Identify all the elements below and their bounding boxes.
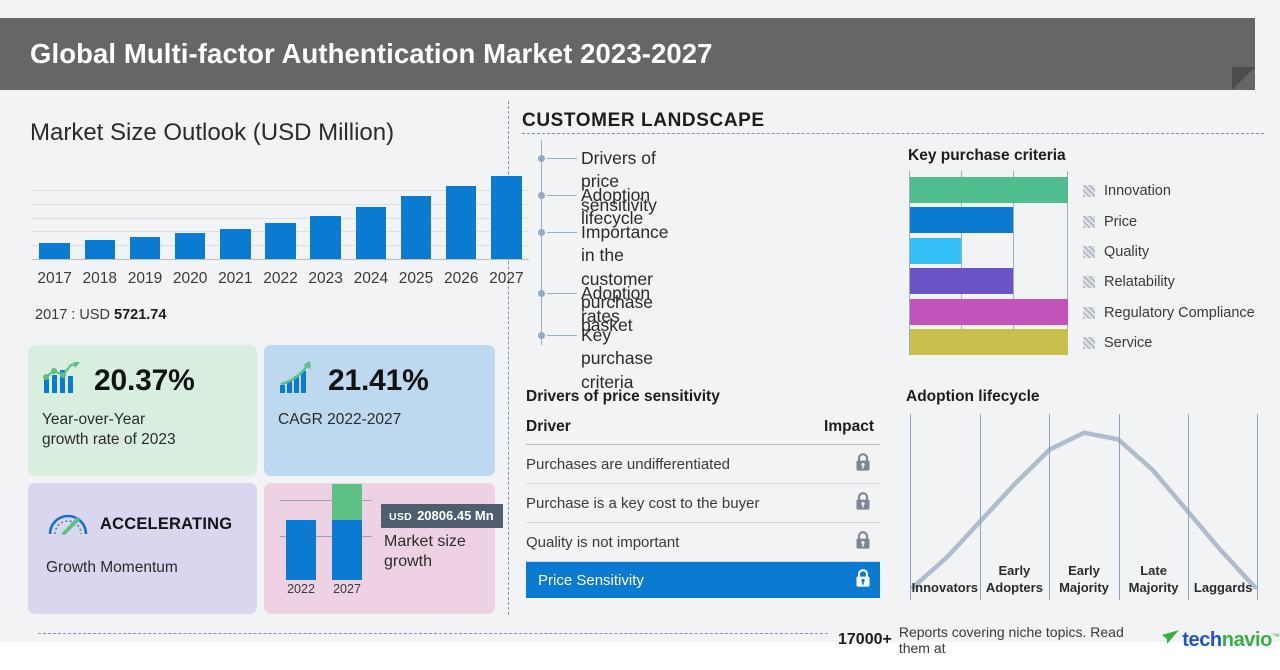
connector-line [547, 293, 577, 294]
connector-line [547, 232, 577, 233]
kpi-caption-yoy: Year-over-Year growth rate of 2023 [28, 400, 257, 451]
legend-label: Regulatory Compliance [1104, 305, 1255, 321]
kpc-bar-innovation [910, 177, 1068, 203]
market-size-outlook-title: Market Size Outlook (USD Million) [30, 119, 394, 147]
bar-2021 [220, 229, 251, 259]
legend-item: Service [1083, 328, 1278, 358]
customer-landscape-title: CUSTOMER LANDSCAPE [522, 110, 765, 132]
x-label-2019: 2019 [122, 270, 167, 288]
customer-landscape-spine [541, 140, 542, 345]
drivers-table-header: Driver Impact [526, 418, 880, 445]
bar-2019 [130, 237, 161, 259]
drivers-table-title: Drivers of price sensitivity [526, 388, 720, 406]
note-prefix: 2017 : USD [35, 307, 110, 323]
kpi-value-cagr: 21.41% [328, 364, 429, 398]
bar-2018 [85, 240, 116, 259]
bullet-dot-icon [538, 155, 545, 162]
table-row[interactable]: Purchases are undifferentiated [526, 445, 880, 484]
column-header-driver: Driver [526, 418, 571, 436]
adoption-lifecycle-x-axis: InnovatorsEarlyAdoptersEarlyMajorityLate… [910, 563, 1258, 605]
legend-item: Relatability [1083, 267, 1278, 297]
technavio-logo[interactable]: tech navio ™ [1162, 629, 1280, 652]
legend-swatch-icon [1083, 276, 1095, 288]
market-size-outlook-chart [32, 172, 529, 260]
kpc-bar-regulatory-compliance [910, 299, 1068, 325]
lock-icon [854, 452, 872, 477]
key-purchase-criteria-legend: InnovationPriceQualityRelatabilityRegula… [1083, 176, 1278, 358]
bar-2020 [175, 233, 206, 259]
msg-year-2027: 2027 [326, 582, 368, 596]
driver-label: Quality is not important [526, 534, 679, 551]
x-axis-line [32, 259, 529, 260]
kpc-bar-quality [910, 238, 961, 264]
lifecycle-label-innovators: Innovators [910, 563, 980, 597]
kpc-bar-relatability [910, 268, 1013, 294]
lock-icon [854, 568, 872, 593]
legend-swatch-icon [1083, 185, 1095, 197]
legend-item: Regulatory Compliance [1083, 298, 1278, 328]
legend-label: Price [1104, 214, 1137, 230]
kpi-caption-momentum: Growth Momentum [28, 542, 257, 578]
kpi-caption-cagr: CAGR 2022-2027 [264, 400, 495, 430]
page-title: Global Multi-factor Authentication Marke… [30, 38, 713, 70]
x-label-2024: 2024 [348, 270, 393, 288]
drivers-table: Driver Impact Purchases are undifferenti… [526, 418, 880, 598]
connector-line [547, 195, 577, 196]
legend-swatch-icon [1083, 216, 1095, 228]
bullet-dot-icon [538, 290, 545, 297]
kpc-bar-price [910, 207, 1013, 233]
key-purchase-criteria-title: Key purchase criteria [908, 147, 1066, 165]
lifecycle-label-early-adopters: EarlyAdopters [980, 563, 1050, 597]
lifecycle-label-laggards: Laggards [1188, 563, 1258, 597]
legend-item: Quality [1083, 237, 1278, 267]
kpi-card-yoy-growth: 20.37% Year-over-Year growth rate of 202… [28, 345, 257, 476]
kpi-value-yoy: 20.37% [94, 364, 195, 398]
footer: 17000+ Reports covering niche topics. Re… [838, 624, 1280, 656]
header-bar: Global Multi-factor Authentication Marke… [0, 18, 1255, 90]
legend-item: Price [1083, 206, 1278, 236]
x-label-2027: 2027 [484, 270, 529, 288]
x-label-2021: 2021 [213, 270, 258, 288]
customer-landscape-underline [522, 133, 1264, 134]
x-label-2026: 2026 [439, 270, 484, 288]
x-label-2022: 2022 [258, 270, 303, 288]
trend-arrow-icon [278, 361, 316, 400]
table-row[interactable]: Purchase is a key cost to the buyer [526, 484, 880, 523]
footer-divider [38, 633, 828, 634]
customer-landscape-item-label: Adoption rates [581, 282, 650, 329]
bar-2025 [401, 196, 432, 259]
bar-2022 [265, 223, 296, 259]
legend-label: Quality [1104, 244, 1149, 260]
bar-2026 [446, 186, 477, 259]
legend-label: Innovation [1104, 183, 1171, 199]
speedometer-icon [46, 507, 90, 542]
bullet-dot-icon [538, 192, 545, 199]
footer-report-count: 17000+ [838, 631, 892, 649]
kpc-bar-service [910, 329, 1068, 355]
bullet-dot-icon [538, 332, 545, 339]
kpi-card-market-size-growth: 2022 2027 USD20806.45 Mn Market size gro… [264, 483, 495, 614]
kpi-card-growth-momentum: ACCELERATING Growth Momentum [28, 483, 257, 614]
bar-2024 [356, 207, 387, 259]
x-label-2023: 2023 [303, 270, 348, 288]
legend-label: Relatability [1104, 274, 1175, 290]
legend-swatch-icon [1083, 337, 1095, 349]
mini-bar-chart-icon: 2022 2027 [280, 500, 372, 596]
kpi-card-cagr: 21.41% CAGR 2022-2027 [264, 345, 495, 476]
paper-plane-icon [1162, 630, 1179, 650]
driver-label: Purchase is a key cost to the buyer [526, 495, 759, 512]
customer-landscape-item-label: Key purchase criteria [581, 324, 653, 394]
adoption-lifecycle-title: Adoption lifecycle [906, 388, 1040, 406]
logo-text-tech: tech [1182, 629, 1222, 652]
badge-value: 20806.45 Mn [417, 508, 494, 523]
legend-label: Service [1104, 335, 1152, 351]
column-header-impact: Impact [824, 418, 874, 436]
kpi-caption-market-size-growth: Market size growth [384, 532, 466, 573]
bar-chart-up-icon [42, 361, 82, 400]
footer-text: Reports covering niche topics. Read them… [899, 624, 1148, 656]
table-row[interactable]: Quality is not important [526, 523, 880, 562]
legend-item: Innovation [1083, 176, 1278, 206]
market-size-outlook-note: 2017 : USD 5721.74 [35, 307, 166, 323]
x-label-2025: 2025 [393, 270, 438, 288]
bar-2027 [491, 176, 522, 259]
driver-label: Purchases are undifferentiated [526, 456, 730, 473]
driver-label: Price Sensitivity [538, 572, 644, 589]
connector-line [547, 335, 577, 336]
x-label-2020: 2020 [168, 270, 213, 288]
note-value: 5721.74 [114, 307, 166, 323]
lock-icon [854, 491, 872, 516]
infographic-page: Global Multi-factor Authentication Marke… [0, 0, 1280, 670]
badge-unit: USD [389, 511, 412, 523]
lock-icon [854, 530, 872, 555]
lifecycle-label-early-majority: EarlyMajority [1049, 563, 1119, 597]
key-purchase-criteria-chart [909, 171, 1069, 355]
connector-line [547, 158, 577, 159]
logo-trademark: ™ [1272, 632, 1280, 641]
msg-year-2022: 2022 [280, 582, 322, 596]
kpi-value-momentum: ACCELERATING [100, 515, 232, 534]
table-row[interactable]: Price Sensitivity [526, 562, 880, 598]
legend-swatch-icon [1083, 246, 1095, 258]
x-label-2018: 2018 [77, 270, 122, 288]
bar-2023 [310, 216, 341, 259]
lifecycle-label-late-majority: LateMajority [1119, 563, 1189, 597]
bullet-dot-icon [538, 229, 545, 236]
legend-swatch-icon [1083, 307, 1095, 319]
x-label-2017: 2017 [32, 270, 77, 288]
market-size-outlook-x-axis: 2017201820192020202120222023202420252026… [32, 270, 529, 290]
logo-text-navio: navio [1222, 629, 1272, 652]
bar-2017 [39, 243, 70, 259]
market-size-growth-badge: USD20806.45 Mn [381, 504, 503, 528]
